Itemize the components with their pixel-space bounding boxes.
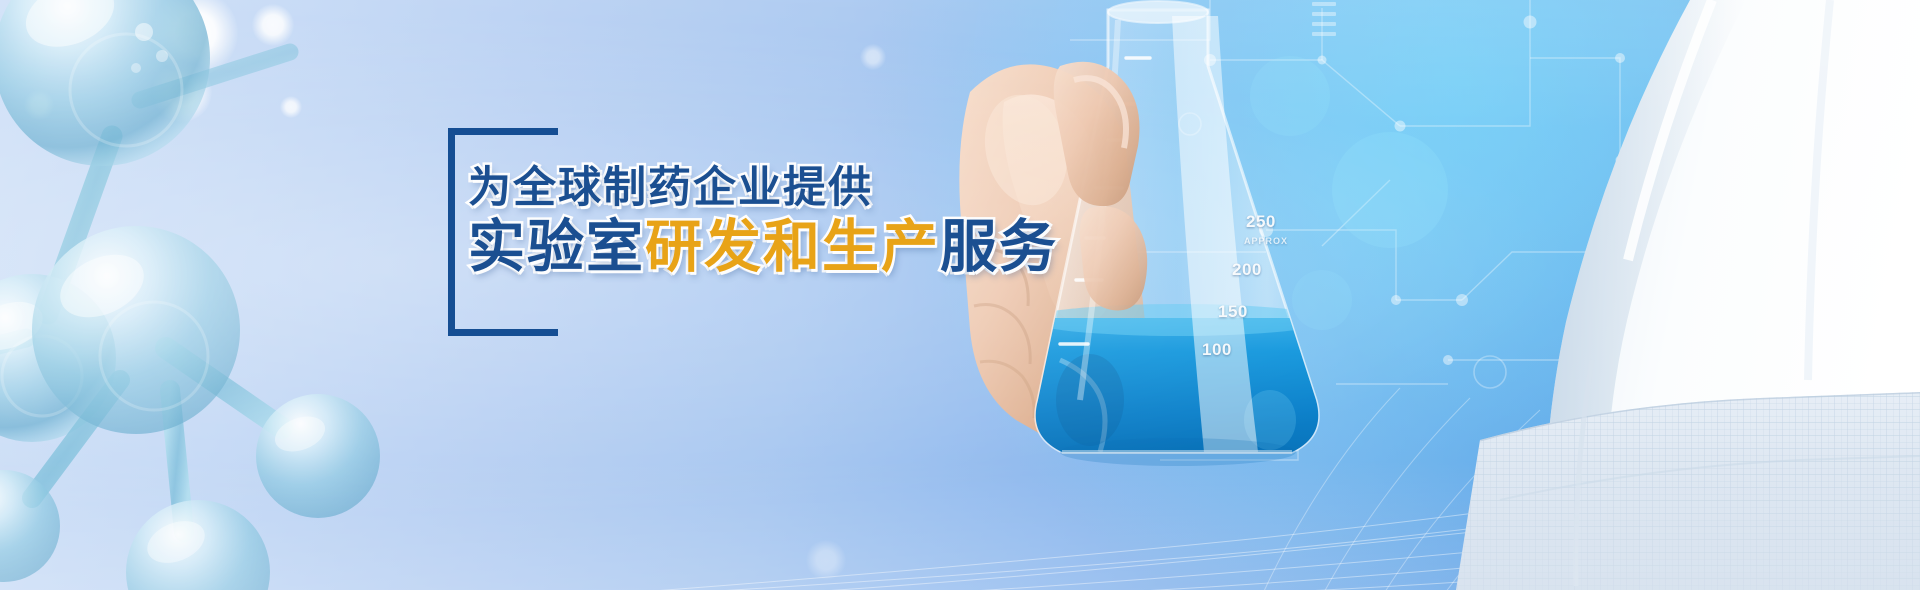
headline-line-2: 实验室研发和生产服务	[468, 215, 1058, 280]
headline-text-wrap: 为全球制药企业提供 实验室研发和生产服务	[468, 164, 1058, 280]
molecule-cluster-lower	[0, 180, 440, 590]
headline-line-2-prefix: 实验室	[468, 215, 645, 279]
lab-coat-sleeve	[1360, 0, 1920, 590]
headline-line-2-highlight: 研发和生产	[645, 215, 940, 279]
hero-banner: 250 APPROX 200 150 100	[0, 0, 1920, 590]
flask-graduation-250: 250	[1246, 212, 1276, 232]
flask-graduation-250-approx: APPROX	[1244, 236, 1288, 246]
flask-graduation-200: 200	[1232, 260, 1262, 280]
flask-graduation-100: 100	[1202, 340, 1232, 360]
headline-line-2-suffix: 服务	[940, 215, 1058, 279]
bokeh-dot	[860, 44, 886, 70]
flask-graduation-150: 150	[1218, 302, 1248, 322]
headline-line-1: 为全球制药企业提供	[468, 164, 1058, 213]
headline-block: 为全球制药企业提供 实验室研发和生产服务	[448, 128, 968, 336]
